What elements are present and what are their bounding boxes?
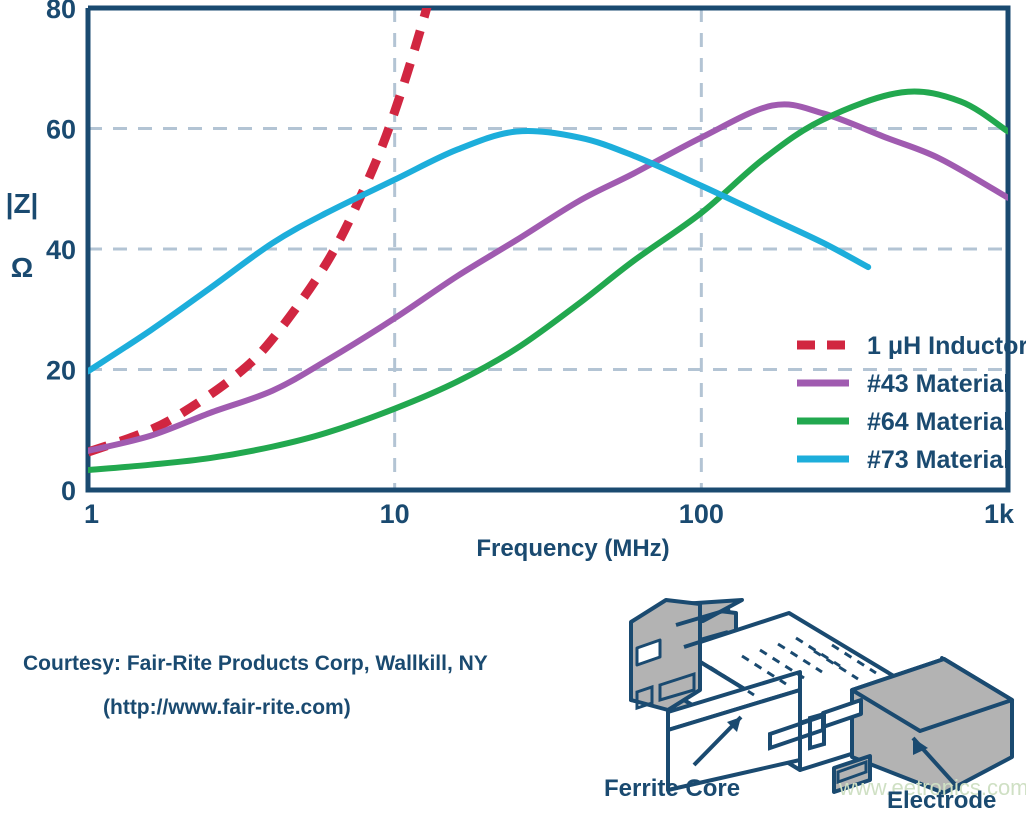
legend-label: #73 Material bbox=[867, 446, 1010, 474]
y-tick-label: 80 bbox=[46, 0, 76, 24]
credit-line-1: Courtesy: Fair-Rite Products Corp, Wallk… bbox=[23, 652, 488, 675]
x-axis-title: Frequency (MHz) bbox=[476, 535, 669, 562]
x-axis-tick-labels: 1101001k bbox=[84, 499, 1015, 529]
y-tick-label: 40 bbox=[46, 235, 76, 265]
y-tick-label: 0 bbox=[61, 476, 76, 506]
series-line-1 bbox=[88, 0, 457, 452]
label-electrode: Electrode bbox=[887, 787, 996, 813]
x-tick-label: 10 bbox=[380, 499, 410, 529]
x-tick-label: 100 bbox=[679, 499, 724, 529]
legend-label: #43 Material bbox=[867, 370, 1010, 398]
x-tick-label: 1 bbox=[84, 499, 99, 529]
y-axis-title-magnitude: |Z| bbox=[6, 188, 39, 219]
label-ferrite-core: Ferrite Core bbox=[604, 775, 740, 802]
ferrite-impedance-figure: 020406080 1101001k |Z| Ω Frequency (MHz)… bbox=[0, 0, 1026, 813]
ferrite-bead-diagram bbox=[631, 600, 1012, 793]
y-tick-label: 20 bbox=[46, 356, 76, 386]
credit-line-2: (http://www.fair-rite.com) bbox=[103, 696, 351, 719]
data-series-group bbox=[88, 0, 1008, 470]
y-axis-tick-labels: 020406080 bbox=[46, 0, 76, 506]
x-tick-label: 1k bbox=[984, 499, 1015, 529]
y-tick-label: 60 bbox=[46, 115, 76, 145]
legend-label: #64 Material bbox=[867, 408, 1010, 436]
legend-label: 1 μH Inductor bbox=[867, 332, 1026, 360]
legend: 1 μH Inductor#43 Material#64 Material#73… bbox=[797, 332, 1026, 474]
y-axis-title-unit: Ω bbox=[11, 252, 33, 283]
figure-root: 020406080 1101001k |Z| Ω Frequency (MHz)… bbox=[0, 0, 1026, 813]
